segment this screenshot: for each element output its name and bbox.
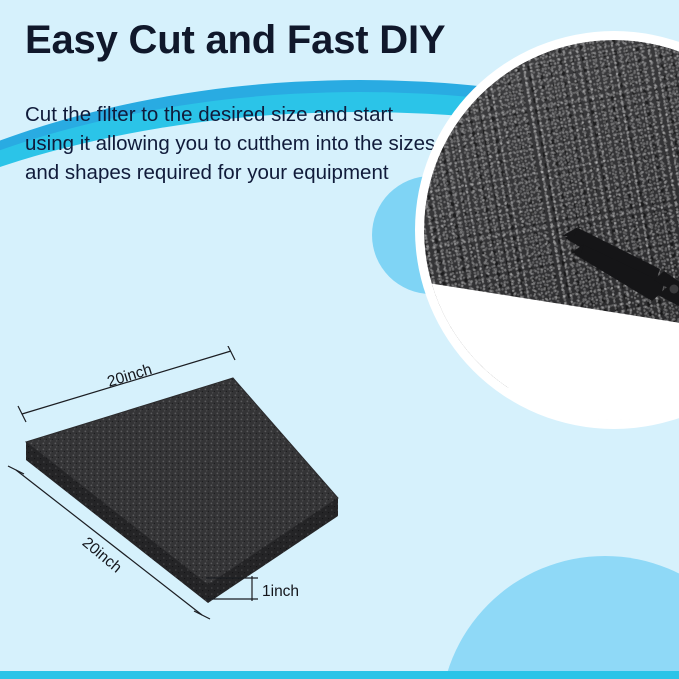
product-photo-image <box>424 40 679 420</box>
hand-icon <box>424 40 679 420</box>
infographic-canvas: Easy Cut and Fast DIY Cut the filter to … <box>0 0 679 679</box>
page-title: Easy Cut and Fast DIY <box>25 20 445 60</box>
dimension-label-thickness: 1inch <box>262 583 299 601</box>
product-photo-circle <box>424 40 679 420</box>
bottom-accent-bar <box>0 671 679 679</box>
description-text: Cut the filter to the desired size and s… <box>25 100 445 187</box>
